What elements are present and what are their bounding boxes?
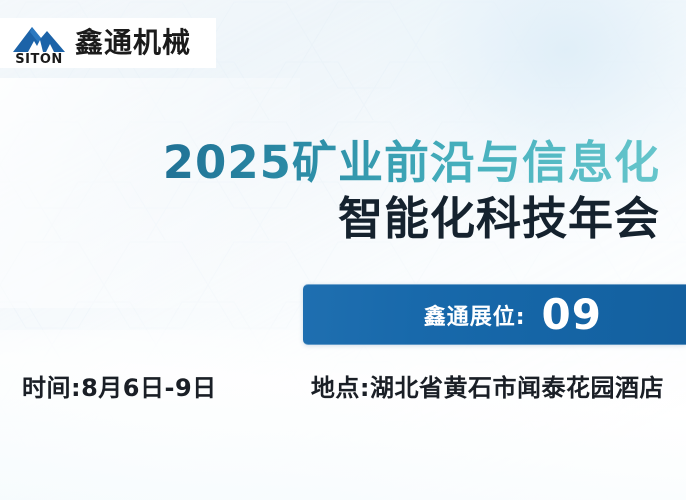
title-line-1: 2025矿业前沿与信息化 — [0, 138, 660, 188]
event-details: 时间:8月6日-9日 地点:湖北省黄石市闻泰花园酒店 — [0, 368, 686, 403]
booth-number: 09 — [542, 294, 602, 336]
mountain-logo-icon: SITON — [10, 21, 68, 65]
event-venue: 地点:湖北省黄石市闻泰花园酒店 — [311, 368, 664, 403]
title-line-2: 智能化科技年会 — [0, 194, 660, 244]
event-poster: SITON 鑫通机械 2025矿业前沿与信息化 智能化科技年会 鑫通展位: 09… — [0, 0, 686, 500]
brand-chinese-name: 鑫通机械 — [75, 29, 191, 57]
brand-logo: SITON 鑫通机械 — [0, 18, 216, 68]
bottom-sheen — [0, 330, 686, 500]
svg-text:SITON: SITON — [15, 52, 63, 65]
event-date: 时间:8月6日-9日 — [22, 368, 217, 403]
background-decoration — [0, 0, 686, 500]
page-title: 2025矿业前沿与信息化 智能化科技年会 — [0, 138, 686, 245]
booth-label: 鑫通展位: — [424, 299, 526, 331]
booth-banner: 鑫通展位: 09 — [303, 284, 686, 345]
hexagon-mesh-pattern — [0, 0, 686, 500]
